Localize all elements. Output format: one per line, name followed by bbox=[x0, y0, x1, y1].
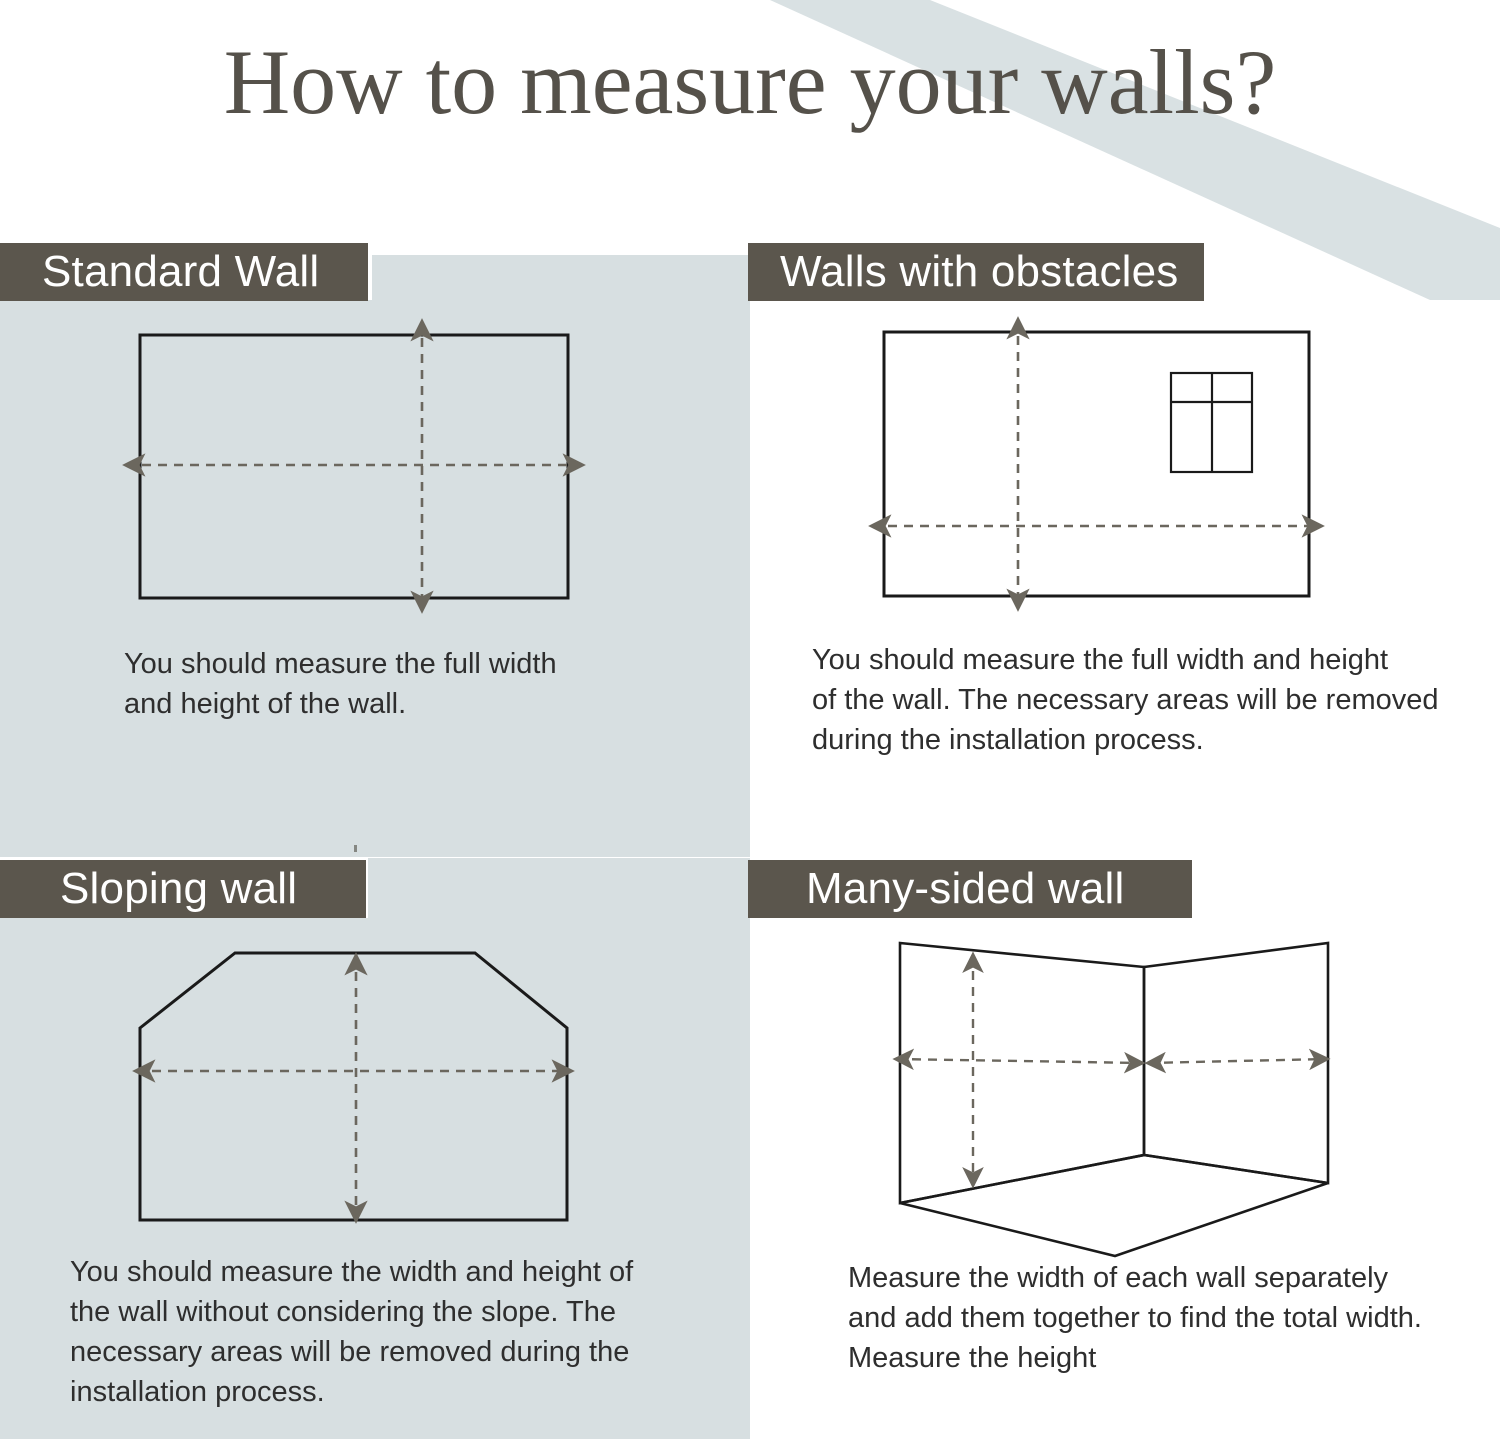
stray-mark-artifact bbox=[354, 845, 357, 852]
infographic-canvas: How to measure your walls? Standard Wall… bbox=[0, 0, 1500, 1439]
window-obstacle-icon bbox=[1171, 373, 1252, 472]
section-badge-walls-with-obstacles: Walls with obstacles bbox=[748, 243, 1204, 301]
right-wall-width-dimension-arrow bbox=[1148, 1059, 1327, 1063]
section-badge-many-sided-wall: Many-sided wall bbox=[748, 860, 1192, 918]
diagram-many-sided-wall bbox=[870, 915, 1360, 1265]
diagram-walls-with-obstacles bbox=[860, 310, 1340, 630]
section-badge-sloping-wall: Sloping wall bbox=[0, 860, 366, 918]
section-badge-standard-wall: Standard Wall bbox=[0, 243, 368, 301]
wall-outline bbox=[140, 953, 567, 1220]
left-wall-width-dimension-arrow bbox=[896, 1059, 1142, 1063]
caption-sloping-wall: You should measure the width and height … bbox=[70, 1252, 690, 1412]
caption-walls-with-obstacles: You should measure the full width and he… bbox=[812, 640, 1492, 760]
wall-outline bbox=[140, 335, 568, 598]
caption-standard-wall: You should measure the full width and he… bbox=[124, 644, 644, 724]
diagram-standard-wall bbox=[110, 310, 630, 630]
corner-room-outline bbox=[900, 943, 1328, 1256]
page-title: How to measure your walls? bbox=[0, 34, 1500, 131]
section-badge-label: Standard Wall bbox=[42, 247, 319, 297]
wall-outline bbox=[884, 332, 1309, 596]
diagram-sloping-wall bbox=[110, 930, 610, 1260]
section-badge-label: Walls with obstacles bbox=[780, 247, 1179, 297]
section-badge-label: Many-sided wall bbox=[806, 864, 1124, 914]
section-badge-label: Sloping wall bbox=[60, 864, 297, 914]
caption-many-sided-wall: Measure the width of each wall separatel… bbox=[848, 1258, 1488, 1378]
